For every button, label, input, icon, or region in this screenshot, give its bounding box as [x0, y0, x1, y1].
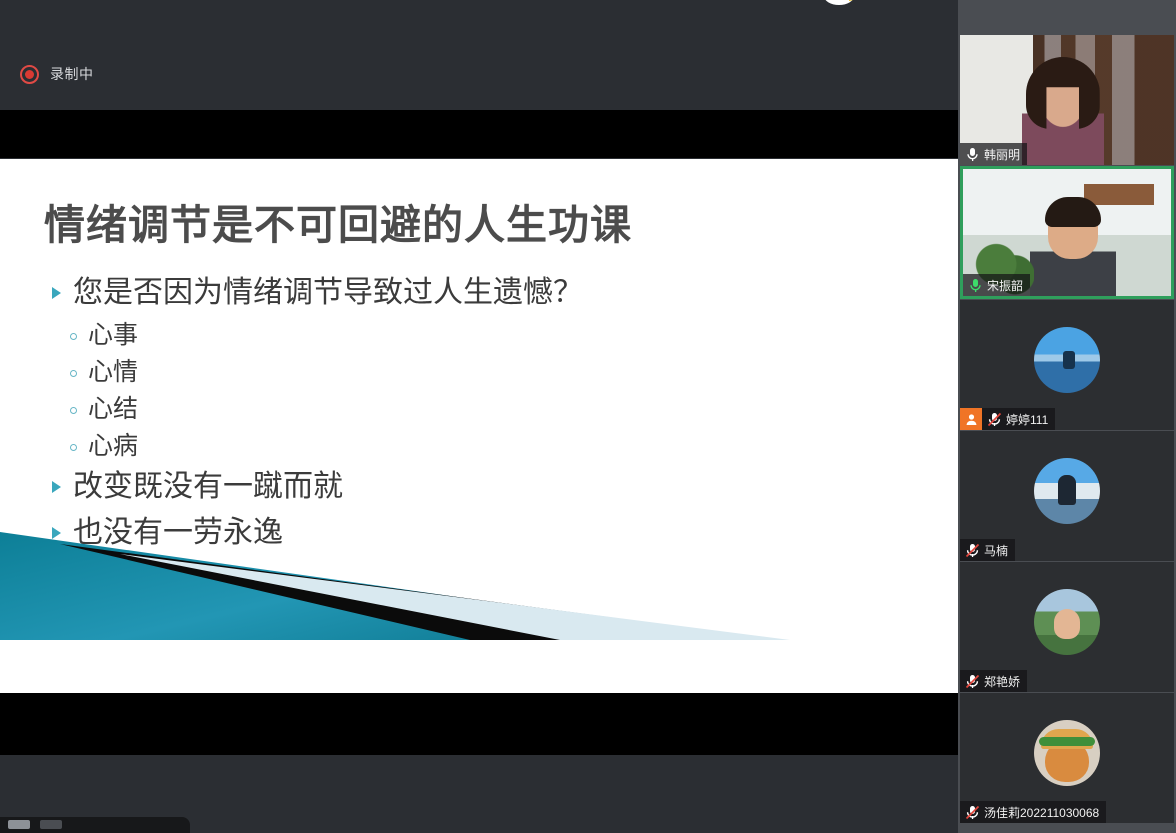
letterbox-top — [0, 110, 958, 158]
bullet-level2: 心结 — [70, 391, 912, 428]
participant-name: 郑艳娇 — [984, 673, 1020, 690]
recording-indicator: 录制中 — [20, 64, 94, 84]
person-hair — [1045, 197, 1101, 227]
participant-name: 婷婷111 — [1006, 411, 1048, 428]
participant-tile[interactable]: 婷婷111 — [960, 300, 1174, 430]
participant-tile[interactable]: 汤佳莉202211030068 — [960, 693, 1174, 823]
microphone-icon — [960, 143, 984, 165]
participant-nameplate: 郑艳娇 — [960, 670, 1027, 692]
bullet-sublist: 心事 心情 心结 心病 — [70, 317, 912, 465]
participant-name: 汤佳莉202211030068 — [984, 804, 1099, 821]
bullet-text: 也没有一劳永逸 — [73, 511, 283, 555]
microphone-muted-icon — [960, 801, 984, 823]
toolbar-icon-2[interactable] — [40, 820, 62, 829]
participant-nameplate: 婷婷111 — [960, 408, 1055, 430]
triangle-bullet-icon — [52, 287, 61, 299]
participant-list: 韩丽明 宋振 — [958, 0, 1176, 824]
participant-tile[interactable]: 韩丽明 — [960, 35, 1174, 165]
circle-bullet-icon — [70, 444, 77, 451]
lake-photo-avatar — [1034, 327, 1100, 393]
participant-name: 韩丽明 — [984, 146, 1020, 163]
participant-tile-active-speaker[interactable]: 宋振韶 — [960, 166, 1174, 299]
microphone-muted-icon — [982, 408, 1006, 430]
bullet-level2: 心病 — [70, 428, 912, 465]
bullet-level2: 心事 — [70, 317, 912, 354]
participant-nameplate: 汤佳莉202211030068 — [960, 801, 1106, 823]
cursor-pointer-icon — [820, 0, 858, 10]
host-person-icon — [960, 408, 982, 430]
bullet-level1: 您是否因为情绪调节导致过人生遗憾？ — [52, 271, 912, 315]
microphone-muted-icon — [960, 539, 984, 561]
bullet-text: 您是否因为情绪调节导致过人生遗憾？ — [73, 271, 583, 315]
shared-screen-stage: 录制中 情绪调节是不可回避的人生功课 — [0, 0, 958, 833]
slide-bullet-list: 您是否因为情绪调节导致过人生遗憾？ 心事 心情 心结 — [52, 271, 912, 557]
bullet-text: 心事 — [88, 317, 138, 354]
participant-nameplate: 马楠 — [960, 539, 1015, 561]
bullet-level1: 改变既没有一蹴而就 — [52, 465, 912, 509]
microphone-active-icon — [963, 274, 987, 296]
participant-nameplate: 宋振韶 — [963, 274, 1030, 296]
recording-label: 录制中 — [50, 64, 94, 84]
slide-title: 情绪调节是不可回避的人生功课 — [44, 191, 632, 251]
participant-tile[interactable]: 马楠 — [960, 431, 1174, 561]
bullet-level2: 心情 — [70, 354, 912, 391]
meeting-toolbar[interactable] — [0, 817, 190, 833]
bullet-text: 心情 — [88, 354, 138, 391]
meeting-window: 录制中 情绪调节是不可回避的人生功课 — [0, 0, 1176, 833]
microphone-muted-icon — [960, 670, 984, 692]
burger-lettuce-icon — [1039, 737, 1095, 746]
bullet-text: 改变既没有一蹴而就 — [73, 465, 343, 509]
recording-bar: 录制中 — [0, 8, 958, 110]
letterbox-bottom — [0, 693, 958, 755]
participant-tile[interactable]: 郑艳娇 — [960, 562, 1174, 692]
skiing-photo-avatar — [1034, 458, 1100, 524]
bullet-level1: 也没有一劳永逸 — [52, 511, 912, 555]
circle-bullet-icon — [70, 407, 77, 414]
bullet-text: 心病 — [88, 428, 138, 465]
participant-nameplate: 韩丽明 — [960, 143, 1027, 165]
participant-name: 马楠 — [984, 542, 1008, 559]
toolbar-icon-1[interactable] — [8, 820, 30, 829]
record-dot-icon — [20, 65, 39, 84]
participant-panel[interactable]: 韩丽明 宋振 — [958, 0, 1176, 833]
circle-bullet-icon — [70, 370, 77, 377]
triangle-bullet-icon — [52, 527, 61, 539]
cat-burger-avatar — [1034, 720, 1100, 786]
circle-bullet-icon — [70, 333, 77, 340]
bullet-text: 心结 — [88, 391, 138, 428]
presentation-slide: 情绪调节是不可回避的人生功课 您是否因为情绪调节导致过人生遗憾？ 心事 心情 — [0, 159, 958, 694]
triangle-bullet-icon — [52, 481, 61, 493]
hat-portrait-avatar — [1034, 589, 1100, 655]
participant-name: 宋振韶 — [987, 277, 1023, 294]
